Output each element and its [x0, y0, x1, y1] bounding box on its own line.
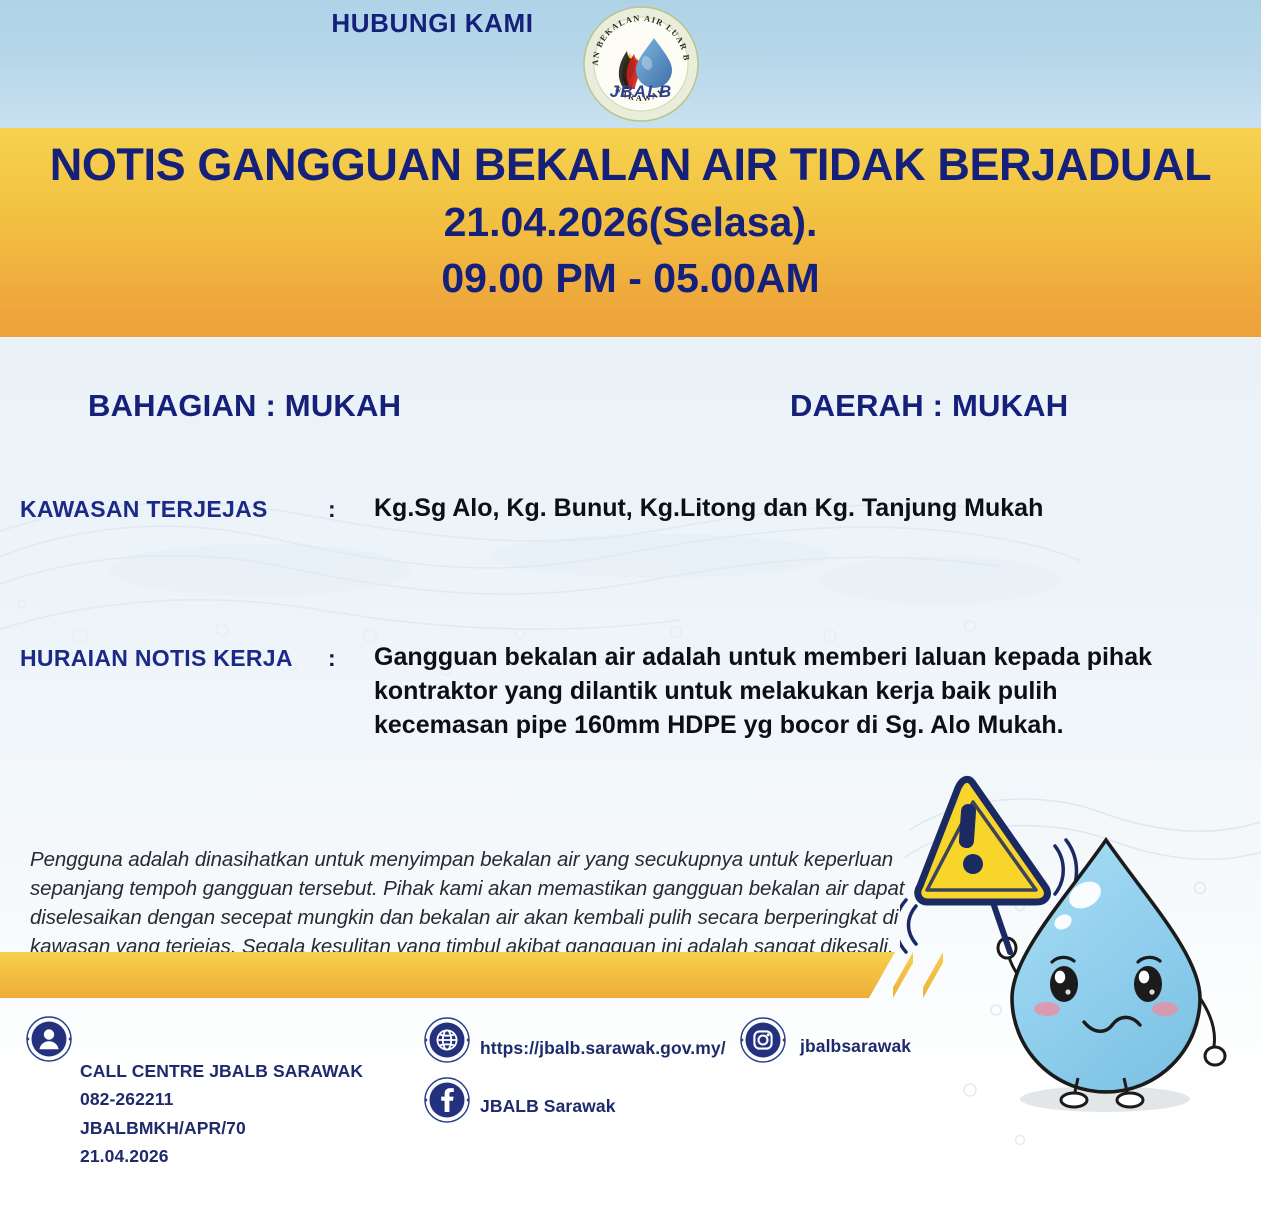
district-label: DAERAH : MUKAH — [790, 388, 1068, 424]
notice-time: 09.00 PM - 05.00AM — [0, 252, 1261, 305]
region-row: BAHAGIAN : MUKAH DAERAH : MUKAH — [0, 388, 1261, 432]
globe-icon[interactable] — [424, 1017, 470, 1063]
affected-areas-label: KAWASAN TERJEJAS — [20, 496, 268, 523]
instagram-text[interactable]: jbalbsarawak — [800, 1032, 911, 1060]
instagram-icon[interactable] — [740, 1017, 786, 1063]
notice-title-band: NOTIS GANGGUAN BEKALAN AIR TIDAK BERJADU… — [0, 128, 1261, 337]
contact-banner-title: HUBUNGI KAMI — [0, 0, 865, 46]
notice-poster: JABATAN BEKALAN AIR LUAR BANDAR SARAWAK … — [0, 0, 1261, 1208]
website-text[interactable]: https://jbalb.sarawak.gov.my/ — [480, 1034, 726, 1062]
work-description-value: Gangguan bekalan air adalah untuk member… — [374, 641, 1164, 742]
contact-banner — [0, 952, 895, 998]
notice-title: NOTIS GANGGUAN BEKALAN AIR TIDAK BERJADU… — [0, 139, 1261, 191]
affected-areas-colon: : — [328, 496, 336, 523]
advisory-note: Pengguna adalah dinasihatkan untuk menyi… — [30, 845, 910, 961]
notice-date: 21.04.2026(Selasa). — [0, 195, 1261, 250]
work-description-colon: : — [328, 645, 336, 672]
call-centre-text: CALL CENTRE JBALB SARAWAK 082-262211 JBA… — [80, 1057, 363, 1170]
facebook-text[interactable]: JBALB Sarawak — [480, 1092, 616, 1120]
work-description-label: HURAIAN NOTIS KERJA — [20, 645, 293, 672]
person-icon — [26, 1016, 72, 1062]
facebook-icon[interactable] — [424, 1077, 470, 1123]
division-label: BAHAGIAN : MUKAH — [88, 388, 401, 424]
affected-areas-value: Kg.Sg Alo, Kg. Bunut, Kg.Litong dan Kg. … — [374, 492, 1164, 526]
svg-text:JBALB: JBALB — [610, 82, 673, 101]
